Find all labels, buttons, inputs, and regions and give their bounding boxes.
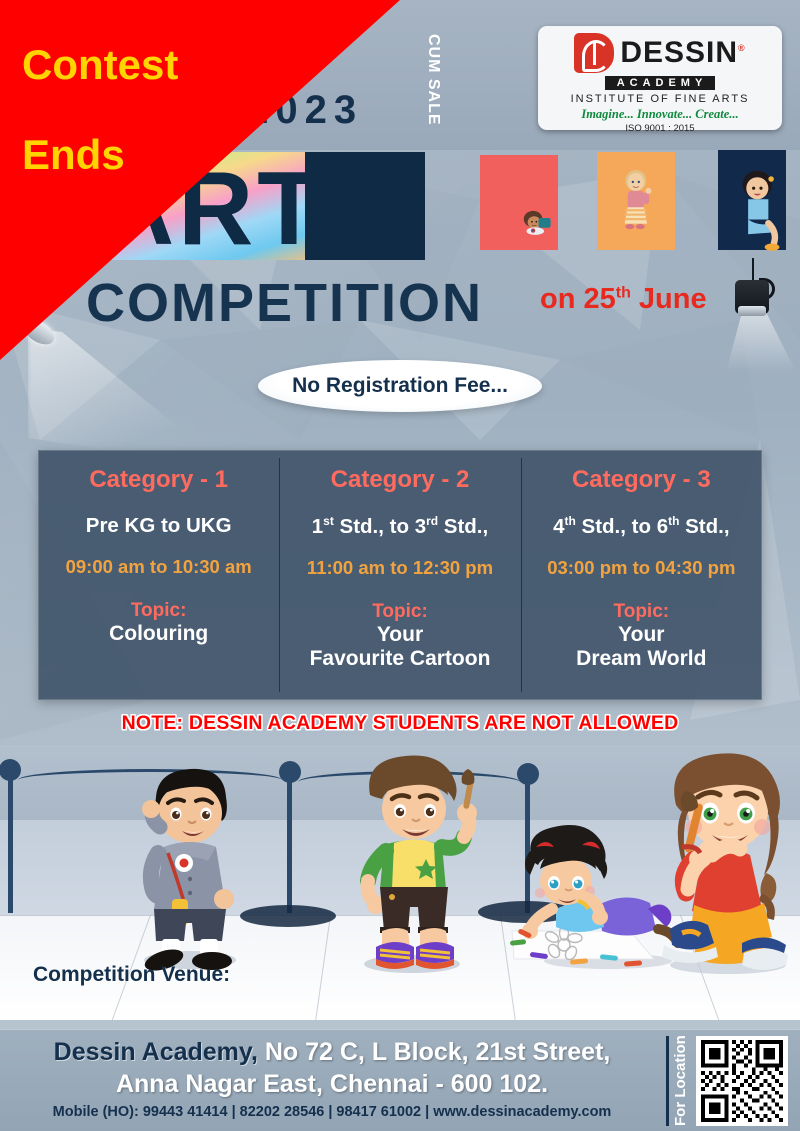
dessin-d-mark-icon xyxy=(574,33,614,73)
qr-code[interactable] xyxy=(696,1036,788,1126)
category-grade-range: Pre KG to UKG xyxy=(44,514,273,538)
logo-institute: INSTITUTE OF FINE ARTS xyxy=(548,93,772,105)
logo-name: DESSIN® xyxy=(620,38,745,68)
logo-tagline: Imagine... Innovate... Create... xyxy=(548,107,772,122)
category-column-2: Category - 2 1st Std., to 3rd Std., 11:0… xyxy=(279,450,520,700)
category-topic-line2: Dream World xyxy=(527,647,756,671)
kid-frame-red xyxy=(480,155,558,250)
categories-table: Category - 1 Pre KG to UKG 09:00 am to 1… xyxy=(38,450,762,700)
qr-section[interactable]: For Location xyxy=(666,1034,798,1128)
kid-frame-orange xyxy=(597,152,675,250)
spotlight-lamp-right-icon xyxy=(735,258,771,324)
category-topic-line1: Colouring xyxy=(44,622,273,646)
category-grade-range: 4th Std., to 6th Std., xyxy=(527,514,756,539)
fee-text: No Registration Fee... xyxy=(292,374,508,398)
category-topic-line1: Your xyxy=(527,623,756,647)
category-topic-line2: Favourite Cartoon xyxy=(285,647,514,671)
category-title: Category - 2 xyxy=(285,466,514,494)
kid-illustration-boy-brush xyxy=(340,751,490,976)
category-topic-line1: Your xyxy=(285,623,514,647)
banner-line2: Ends xyxy=(22,134,125,176)
category-column-3: Category - 3 4th Std., to 6th Std., 03:0… xyxy=(521,450,762,700)
category-time: 11:00 am to 12:30 pm xyxy=(285,557,514,579)
category-time: 03:00 pm to 04:30 pm xyxy=(527,557,756,579)
category-topic-label: Topic: xyxy=(44,600,273,622)
logo-iso-certification: ISO 9001 : 2015 xyxy=(548,123,772,134)
footer-academy-name: Dessin Academy, xyxy=(54,1038,258,1066)
category-column-1: Category - 1 Pre KG to UKG 09:00 am to 1… xyxy=(38,450,279,700)
kid-frame-navy xyxy=(718,150,786,250)
registered-trademark-icon: ® xyxy=(738,43,746,53)
category-title: Category - 3 xyxy=(527,466,756,494)
footer-address-line2: Anna Nagar East, Chennai - 600 102. xyxy=(0,1070,664,1099)
category-time: 09:00 am to 10:30 am xyxy=(44,556,273,578)
logo-academy: ACADEMY xyxy=(605,76,716,90)
footer-contact-line: Mobile (HO): 99443 41414 | 82202 28546 |… xyxy=(0,1104,664,1120)
event-date: on 25th June xyxy=(540,283,707,316)
category-grade-range: 1st Std., to 3rd Std., xyxy=(285,514,514,539)
footer-address-line1: Dessin Academy, No 72 C, L Block, 21st S… xyxy=(0,1038,664,1067)
competition-venue-label: Competition Venue: xyxy=(33,963,230,987)
note-text: NOTE: DESSIN ACADEMY STUDENTS ARE NOT AL… xyxy=(0,712,800,735)
kid-illustration-boy-uniform xyxy=(120,757,260,972)
qr-label: For Location xyxy=(672,1034,689,1128)
cum-sale-text: CUM SALE xyxy=(424,34,442,126)
kid-illustration-girl-brush xyxy=(636,747,800,977)
no-registration-fee-badge: No Registration Fee... xyxy=(258,360,542,412)
banner-line1: Contest xyxy=(22,44,178,86)
qr-divider xyxy=(666,1036,669,1126)
dessin-academy-logo: DESSIN® ACADEMY INSTITUTE OF FINE ARTS I… xyxy=(538,26,782,130)
category-topic-label: Topic: xyxy=(285,601,514,623)
poster-root: KFUL NS - 2023 CUM SALE DESSIN® ACADEMY … xyxy=(0,0,800,1131)
category-topic-label: Topic: xyxy=(527,601,756,623)
category-title: Category - 1 xyxy=(44,466,273,494)
competition-text: COMPETITION xyxy=(86,272,483,334)
